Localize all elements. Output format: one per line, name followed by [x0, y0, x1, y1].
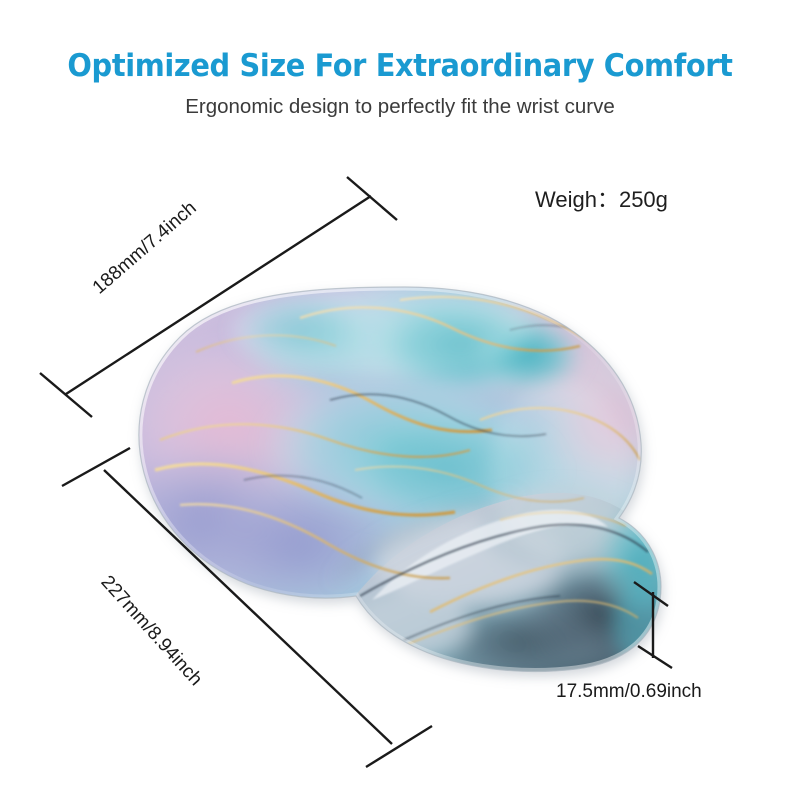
length-dimension-line — [62, 448, 432, 767]
thickness-dimension-line — [634, 582, 672, 668]
dimension-lines — [0, 0, 800, 800]
product-infographic: Optimized Size For Extraordinary Comfort… — [0, 0, 800, 800]
width-dimension-line — [40, 177, 397, 417]
